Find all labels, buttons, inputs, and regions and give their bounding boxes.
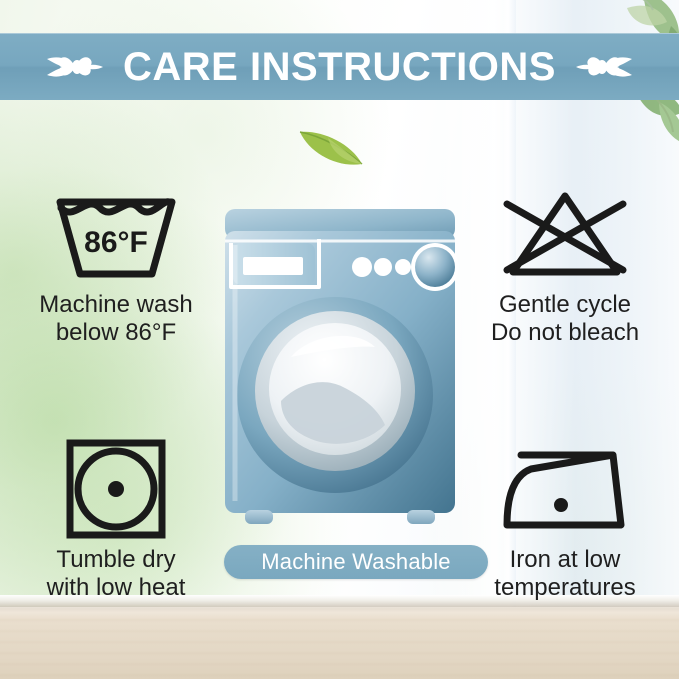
wash-tub-icon: 86°F: [48, 186, 184, 282]
machine-washable-badge-label: Machine Washable: [261, 551, 450, 573]
wooden-table-surface: [0, 607, 679, 679]
care-item-machine-wash: 86°F Machine wash below 86°F: [6, 185, 226, 348]
floating-green-leaf: [298, 122, 366, 170]
care-item-label-do-not-bleach: Gentle cycle Do not bleach: [491, 291, 639, 348]
do-not-bleach-icon-wrap: [495, 185, 635, 283]
washer-drawer-slot: [243, 257, 303, 275]
washing-machine-illustration: [219, 205, 461, 535]
header-banner: CARE INSTRUCTIONS: [0, 33, 679, 100]
care-item-tumble-dry: Tumble dry with low heat: [6, 440, 226, 603]
tumble-dry-low-icon: [64, 437, 168, 541]
washer-foot-right: [407, 510, 435, 524]
care-item-do-not-bleach: Gentle cycle Do not bleach: [455, 185, 675, 348]
care-item-label-machine-wash: Machine wash below 86°F: [39, 291, 192, 348]
washer-foot-left: [245, 510, 273, 524]
fleur-de-lis-ornament-right: [574, 45, 634, 89]
care-instructions-infographic: CARE INSTRUCTIONS 86°F Machine wa: [0, 0, 679, 679]
iron-low-temperature-icon: [497, 441, 633, 537]
care-item-label-iron: Iron at low temperatures: [494, 546, 635, 603]
care-item-iron: Iron at low temperatures: [455, 440, 675, 603]
fleur-de-lis-ornament-left: [45, 45, 105, 89]
tumble-dry-icon-wrap: [64, 440, 168, 538]
care-item-label-tumble-dry: Tumble dry with low heat: [47, 546, 186, 603]
page-title: CARE INSTRUCTIONS: [123, 47, 556, 87]
iron-icon-wrap: [497, 440, 633, 538]
washer-indicator-light-1: [352, 257, 372, 277]
washer-indicator-light-3: [395, 259, 411, 275]
washer-indicator-light-2: [374, 258, 392, 276]
wash-tub-temperature: 86°F: [84, 226, 148, 259]
wash-tub-icon-wrap: 86°F: [48, 185, 184, 283]
washer-program-knob: [415, 247, 455, 287]
do-not-bleach-triangle-icon: [495, 186, 635, 282]
machine-washable-badge: Machine Washable: [224, 545, 488, 579]
